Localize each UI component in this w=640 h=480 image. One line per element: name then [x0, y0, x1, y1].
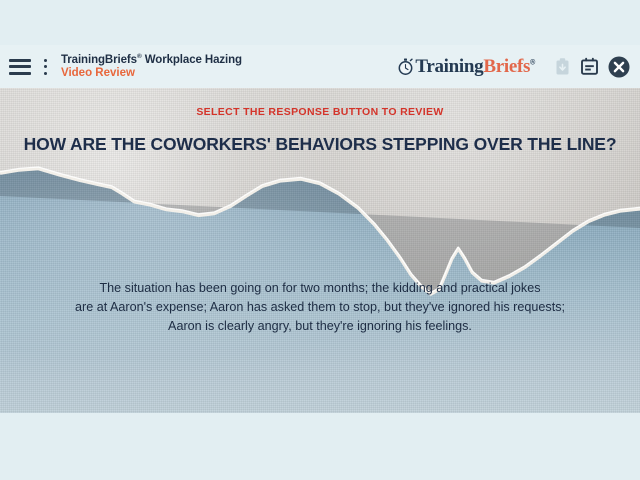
course-title-rest: Workplace Hazing	[142, 54, 242, 66]
body-line: Aaron is clearly angry, but they're igno…	[50, 317, 590, 336]
brand-wordmark: TrainingBriefs®	[415, 57, 535, 76]
question-heading: HOW ARE THE COWORKERS' BEHAVIORS STEPPIN…	[0, 134, 640, 155]
brand-registered-mark: ®	[530, 60, 535, 67]
trainingbriefs-logo: TrainingBriefs®	[397, 57, 535, 76]
stopwatch-icon	[397, 58, 414, 75]
course-player-window: TrainingBriefs® Workplace Hazing Video R…	[0, 0, 640, 480]
course-title-brand: TrainingBriefs	[61, 54, 137, 66]
notes-icon[interactable]	[580, 57, 599, 76]
close-icon[interactable]	[608, 56, 630, 78]
body-line: The situation has been going on for two …	[50, 279, 590, 298]
brand-word-briefs: Briefs	[483, 56, 530, 77]
kebab-dot	[44, 59, 47, 62]
kebab-dot	[44, 65, 47, 68]
more-options-icon[interactable]	[39, 59, 51, 75]
response-body-text: The situation has been going on for two …	[50, 279, 590, 336]
kebab-dot	[44, 72, 47, 75]
instruction-eyebrow: SELECT THE RESPONSE BUTTON TO REVIEW	[0, 106, 640, 118]
hamburger-bar	[9, 65, 31, 68]
download-icon	[554, 57, 571, 76]
slide-stage: SELECT THE RESPONSE BUTTON TO REVIEW HOW…	[0, 88, 640, 413]
player-footer-area	[0, 413, 640, 480]
hamburger-bar	[9, 72, 31, 75]
brand-word-training: Training	[415, 56, 483, 77]
body-line: are at Aaron's expense; Aaron has asked …	[50, 298, 590, 317]
course-title: TrainingBriefs® Workplace Hazing	[61, 53, 242, 66]
hamburger-bar	[9, 59, 31, 62]
hamburger-menu-icon[interactable]	[9, 59, 31, 75]
section-label: Video Review	[61, 67, 242, 79]
header-title-block: TrainingBriefs® Workplace Hazing Video R…	[61, 53, 242, 80]
player-header: TrainingBriefs® Workplace Hazing Video R…	[0, 45, 640, 88]
